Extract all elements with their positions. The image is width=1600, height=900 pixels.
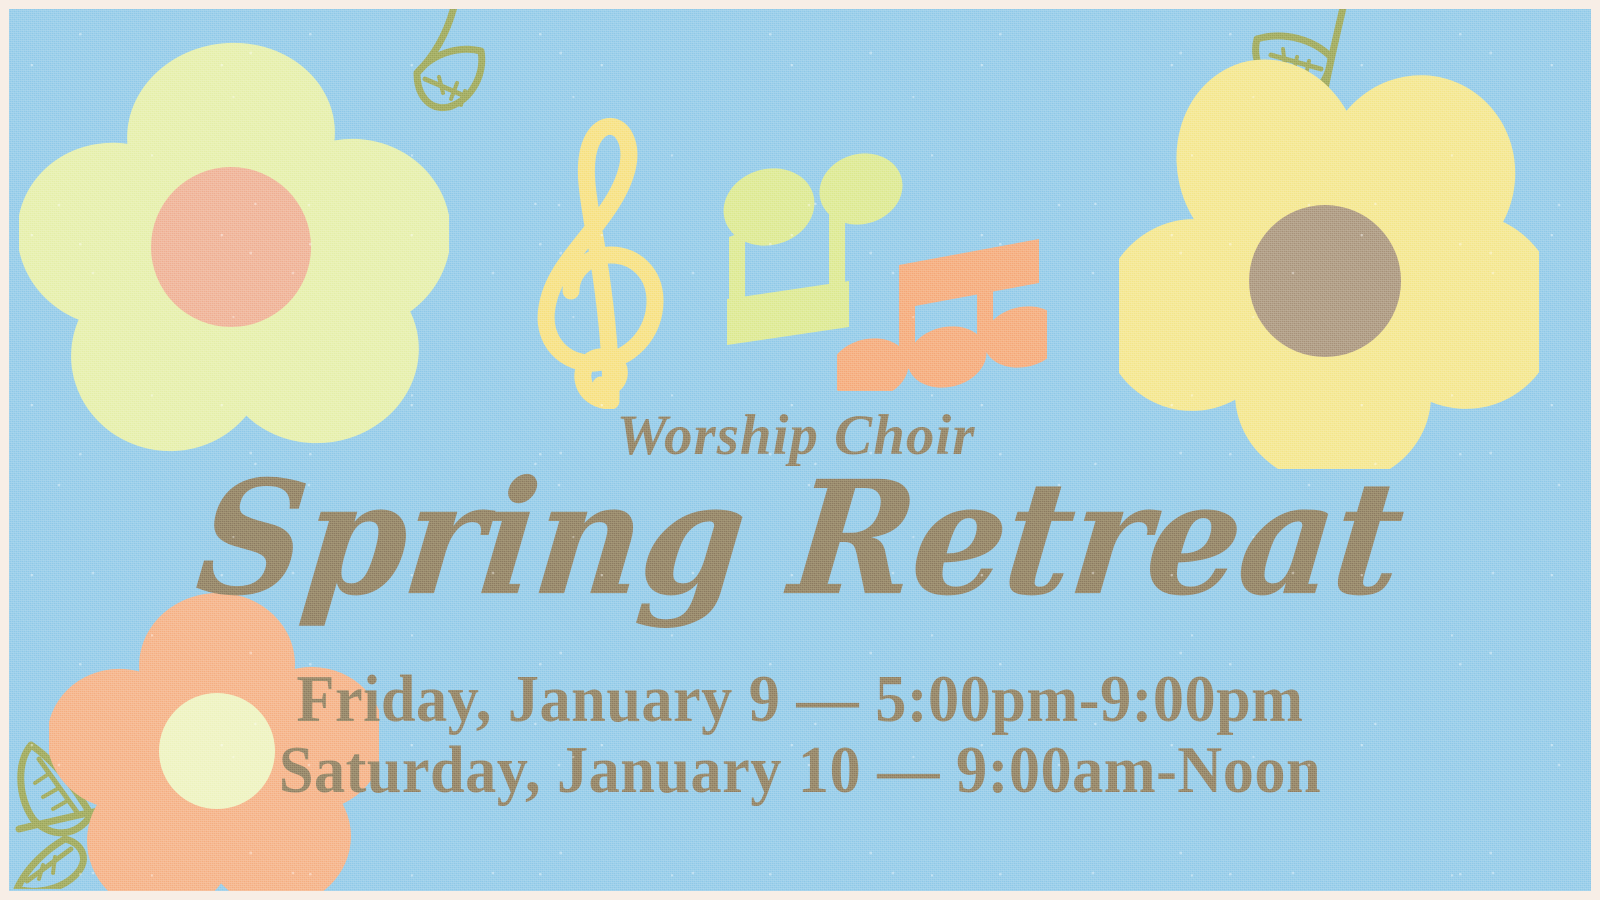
beamed-sixteenth-notes-icon bbox=[837, 231, 1047, 391]
flower-icon bbox=[19, 39, 449, 459]
event-dates: Friday, January 9 — 5:00pm-9:00pm Saturd… bbox=[9, 664, 1591, 806]
poster-canvas: Worship Choir Spring Retreat Friday, Jan… bbox=[9, 9, 1591, 891]
event-date-line: Saturday, January 10 — 9:00am-Noon bbox=[64, 735, 1535, 806]
poster-graphic: Worship Choir Spring Retreat Friday, Jan… bbox=[0, 0, 1600, 900]
treble-clef-icon bbox=[519, 109, 699, 409]
page-title: Spring Retreat bbox=[9, 460, 1591, 617]
event-date-line: Friday, January 9 — 5:00pm-9:00pm bbox=[64, 664, 1535, 735]
